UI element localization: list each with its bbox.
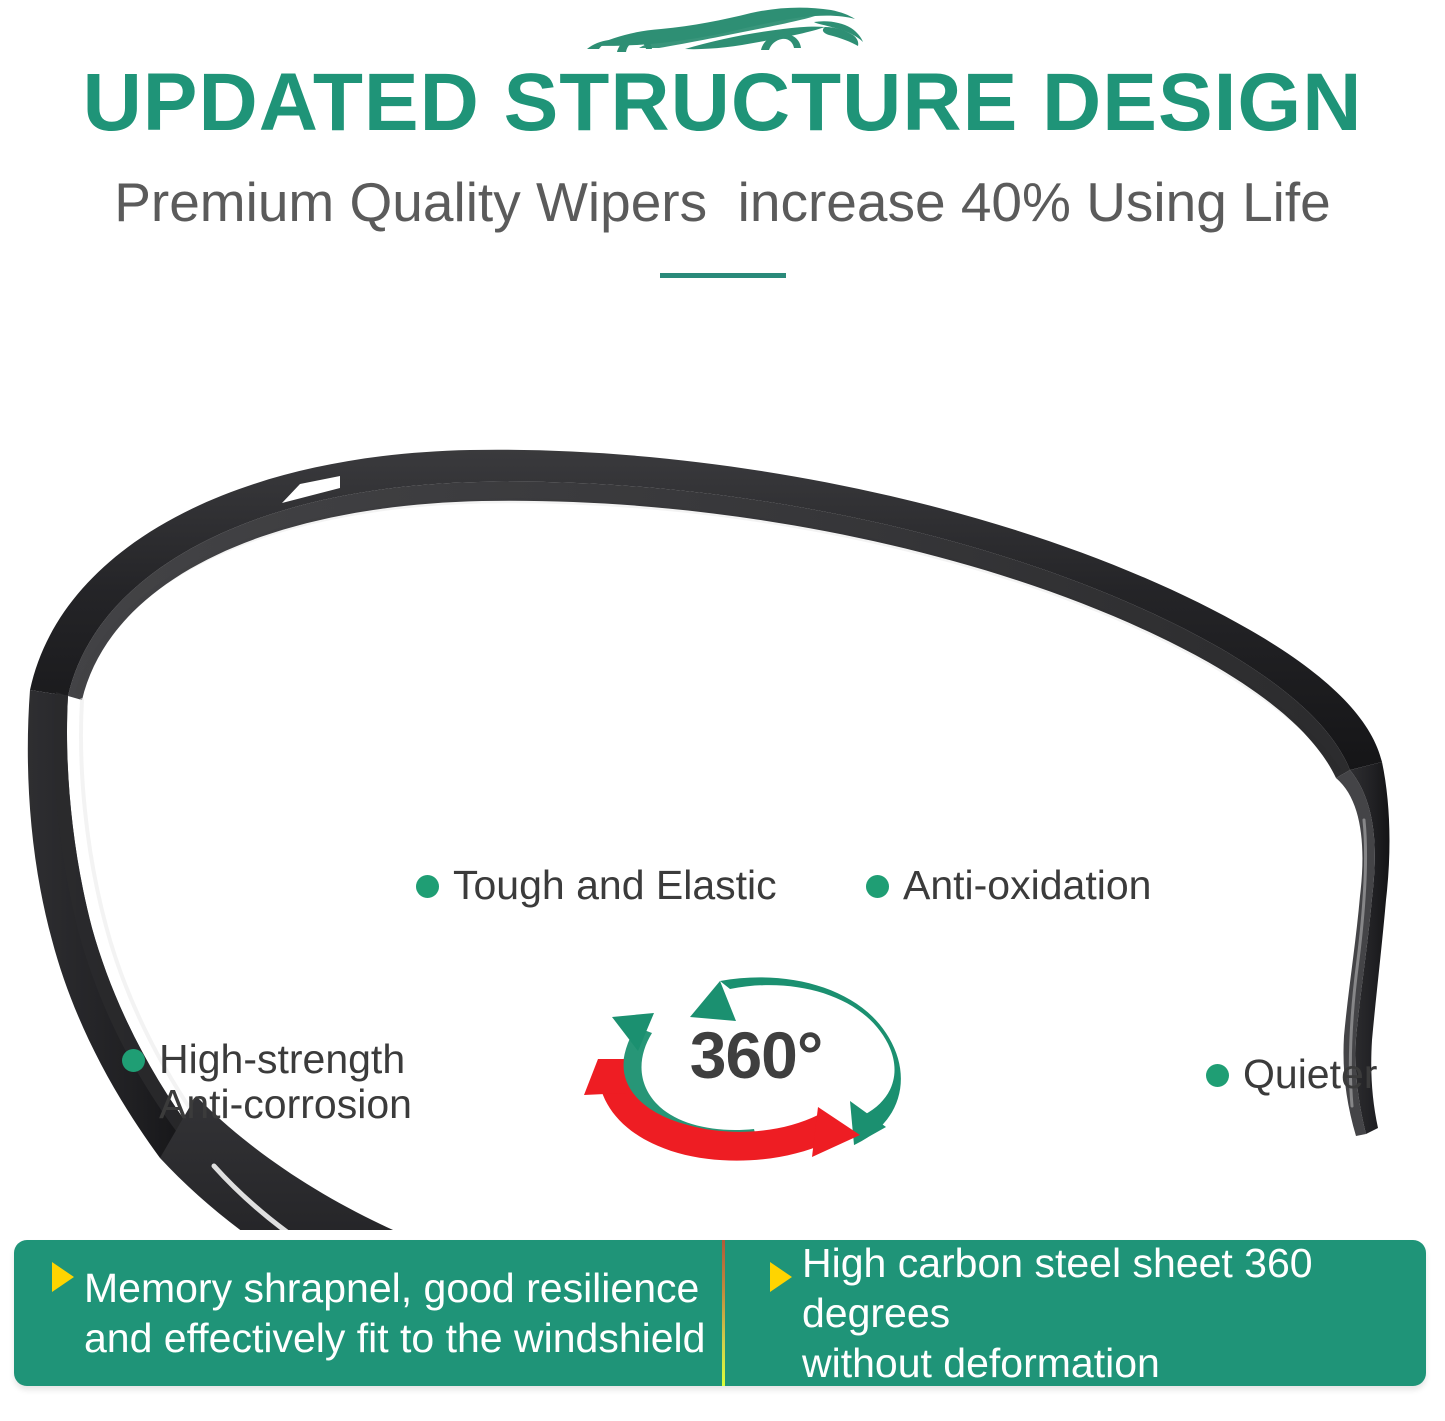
page-title: UPDATED STRUCTURE DESIGN	[0, 62, 1445, 144]
page-subtitle: Premium Quality Wipers increase 40% Usin…	[0, 172, 1445, 232]
badge-360-label: 360°	[568, 955, 928, 1165]
feature-quieter: Quieter	[1206, 1052, 1377, 1097]
banner-panel-text: Memory shrapnel, good resilience and eff…	[84, 1263, 705, 1363]
header: UPDATED STRUCTURE DESIGN Premium Quality…	[0, 0, 1445, 300]
banner-panel-text: High carbon steel sheet 360 degrees with…	[802, 1238, 1426, 1388]
bullet-dot-icon	[1206, 1064, 1229, 1087]
bottom-feature-banner: Memory shrapnel, good resilience and eff…	[14, 1240, 1426, 1386]
rotation-360-badge: 360°	[568, 955, 928, 1165]
feature-high-strength-anti-corrosion: High-strength Anti-corrosion	[122, 1037, 412, 1127]
bullet-dot-icon	[866, 875, 889, 898]
bullet-dot-icon	[416, 875, 439, 898]
title-divider	[660, 273, 786, 278]
banner-panel-memory-shrapnel: Memory shrapnel, good resilience and eff…	[14, 1240, 720, 1386]
car-silhouette-icon	[573, 4, 873, 62]
feature-tough-and-elastic: Tough and Elastic	[416, 863, 777, 908]
feature-label: High-strength Anti-corrosion	[159, 1037, 412, 1127]
bullet-dot-icon	[122, 1049, 145, 1072]
feature-anti-oxidation: Anti-oxidation	[866, 863, 1151, 908]
triangle-right-icon	[52, 1262, 74, 1292]
feature-label: Tough and Elastic	[453, 863, 777, 908]
triangle-right-icon	[770, 1262, 792, 1292]
feature-label: Quieter	[1243, 1052, 1377, 1097]
product-image-area: Tough and Elastic Anti-oxidation High-st…	[0, 300, 1445, 1230]
banner-panel-high-carbon-steel: High carbon steel sheet 360 degrees with…	[720, 1240, 1426, 1386]
feature-label: Anti-oxidation	[903, 863, 1151, 908]
